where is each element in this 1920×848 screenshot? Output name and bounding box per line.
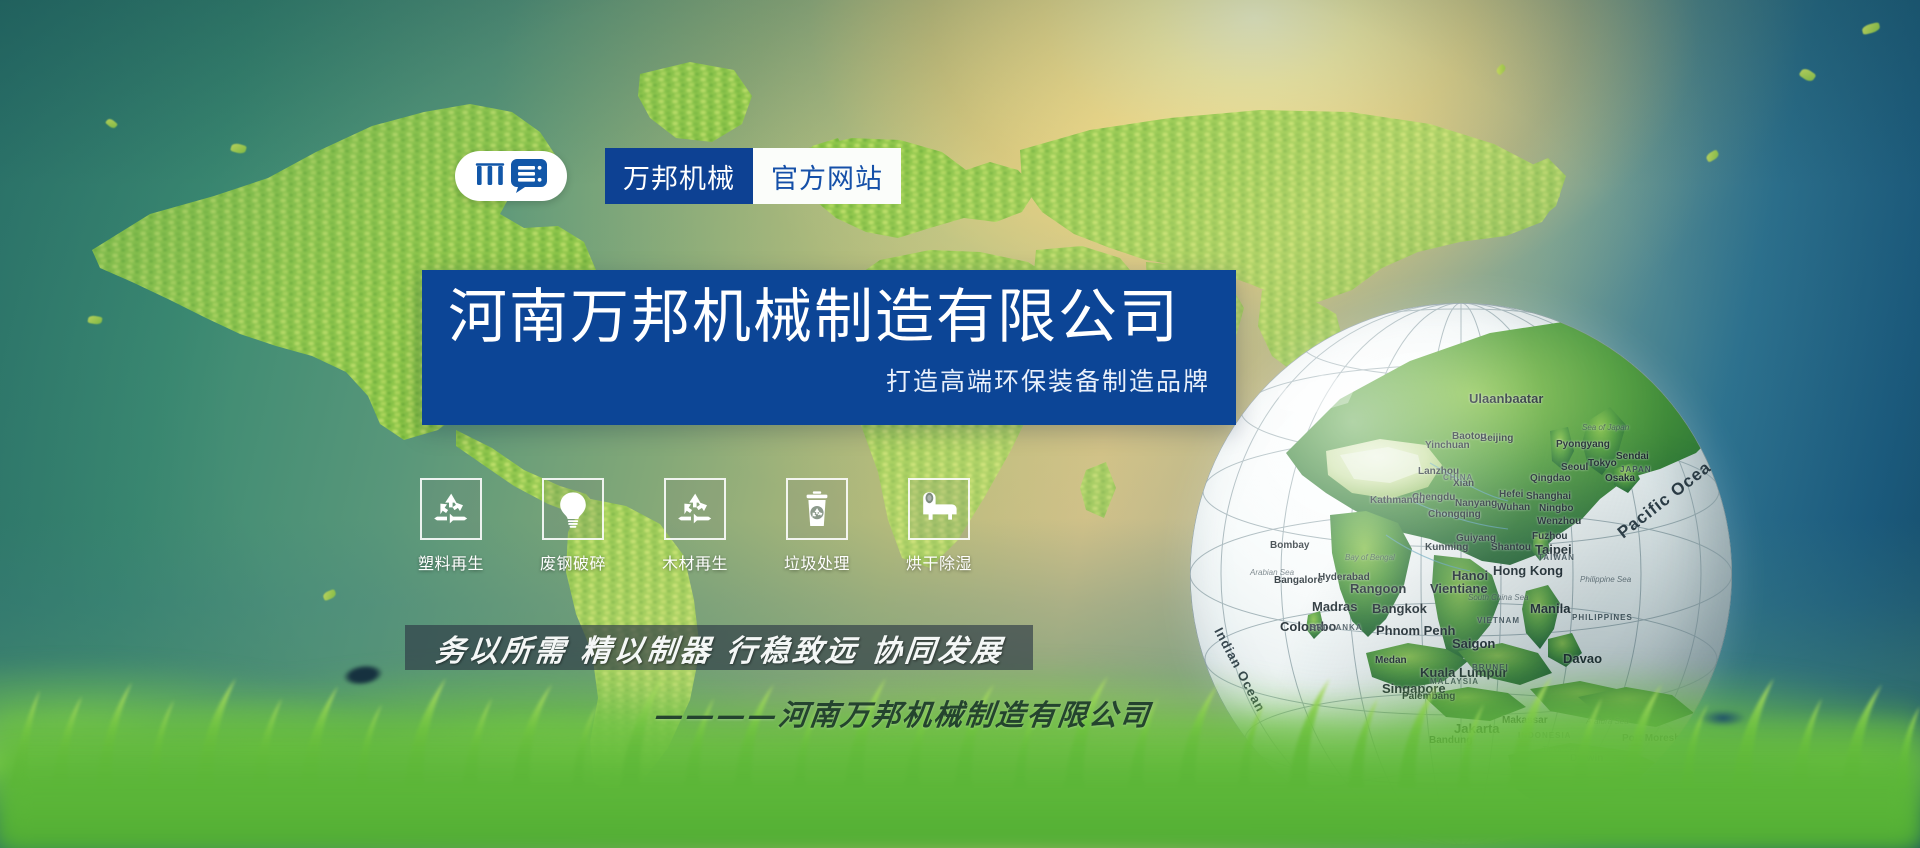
globe-city-label: Seoul	[1561, 462, 1588, 473]
globe-country-label: CHINA	[1443, 473, 1473, 482]
hero-banner-stage: Hong KongManilaBangkokRangoonPhnom PenhK…	[0, 0, 1920, 848]
globe-city-label: Hefei	[1499, 489, 1523, 500]
lightbulb-icon	[542, 478, 604, 540]
company-tagline: 打造高端环保装备制造品牌	[448, 362, 1210, 398]
globe-country-label: JAPAN	[1620, 465, 1652, 474]
site-header: 万邦机械 官方网站	[455, 148, 901, 204]
logo-e-bubble	[510, 158, 548, 194]
company-name: 河南万邦机械制造有限公司	[448, 286, 1210, 350]
globe-city-label: Nanyang	[1455, 498, 1497, 509]
feature-icon-row: 塑料再生 废钢破碎 木材再生 垃圾处理	[420, 478, 970, 574]
globe-city-label: Ulaanbaatar	[1469, 391, 1543, 406]
wanbang-logo[interactable]	[455, 151, 567, 201]
feature-item-4[interactable]: 垃圾处理	[786, 478, 848, 574]
feature-label: 垃圾处理	[784, 550, 850, 574]
grass-blue-speck	[1700, 710, 1746, 726]
feature-item-5[interactable]: 烘干除湿	[908, 478, 970, 574]
slogan-signature: ————河南万邦机械制造有限公司	[652, 692, 1177, 734]
nav-tab-brand[interactable]: 万邦机械	[605, 148, 753, 204]
feature-item-3[interactable]: 木材再生	[664, 478, 726, 574]
company-title-banner: 河南万邦机械制造有限公司 打造高端环保装备制造品牌	[422, 270, 1236, 425]
feature-item-2[interactable]: 废钢破碎	[542, 478, 604, 574]
logo-w-mark	[475, 162, 505, 190]
slogan-text: 务以所需 精以制器 行稳致远 协同发展	[418, 626, 1023, 670]
globe-city-label: Wuhan	[1497, 502, 1530, 513]
globe-city-label: Pyongyang	[1556, 439, 1610, 450]
globe-city-label: Baotou	[1452, 431, 1486, 442]
feature-item-1[interactable]: 塑料再生	[420, 478, 482, 574]
nav-tab-official-site[interactable]: 官方网站	[753, 148, 901, 204]
recycle-icon	[420, 478, 482, 540]
trash-bin-icon	[786, 478, 848, 540]
feature-label: 废钢破碎	[540, 550, 606, 574]
globe-sea-label: Sea of Japan	[1582, 423, 1629, 432]
globe-city-label: Ningbo	[1539, 503, 1573, 514]
feature-label: 木材再生	[662, 550, 728, 574]
globe-city-label: Qingdao	[1530, 473, 1571, 484]
site-nav: 万邦机械 官方网站	[605, 148, 901, 204]
feature-label: 塑料再生	[418, 550, 484, 574]
globe-city-label: Osaka	[1605, 473, 1635, 484]
globe-city-label: Sendai	[1616, 451, 1649, 462]
grass-bokeh-bottom	[0, 752, 1920, 848]
dryer-machine-icon	[908, 478, 970, 540]
globe-city-label: Kathmandu	[1370, 495, 1425, 506]
recycle-icon	[664, 478, 726, 540]
globe-city-label: Tokyo	[1588, 458, 1617, 469]
feature-label: 烘干除湿	[906, 550, 972, 574]
globe-city-label: Shanghai	[1526, 491, 1571, 502]
